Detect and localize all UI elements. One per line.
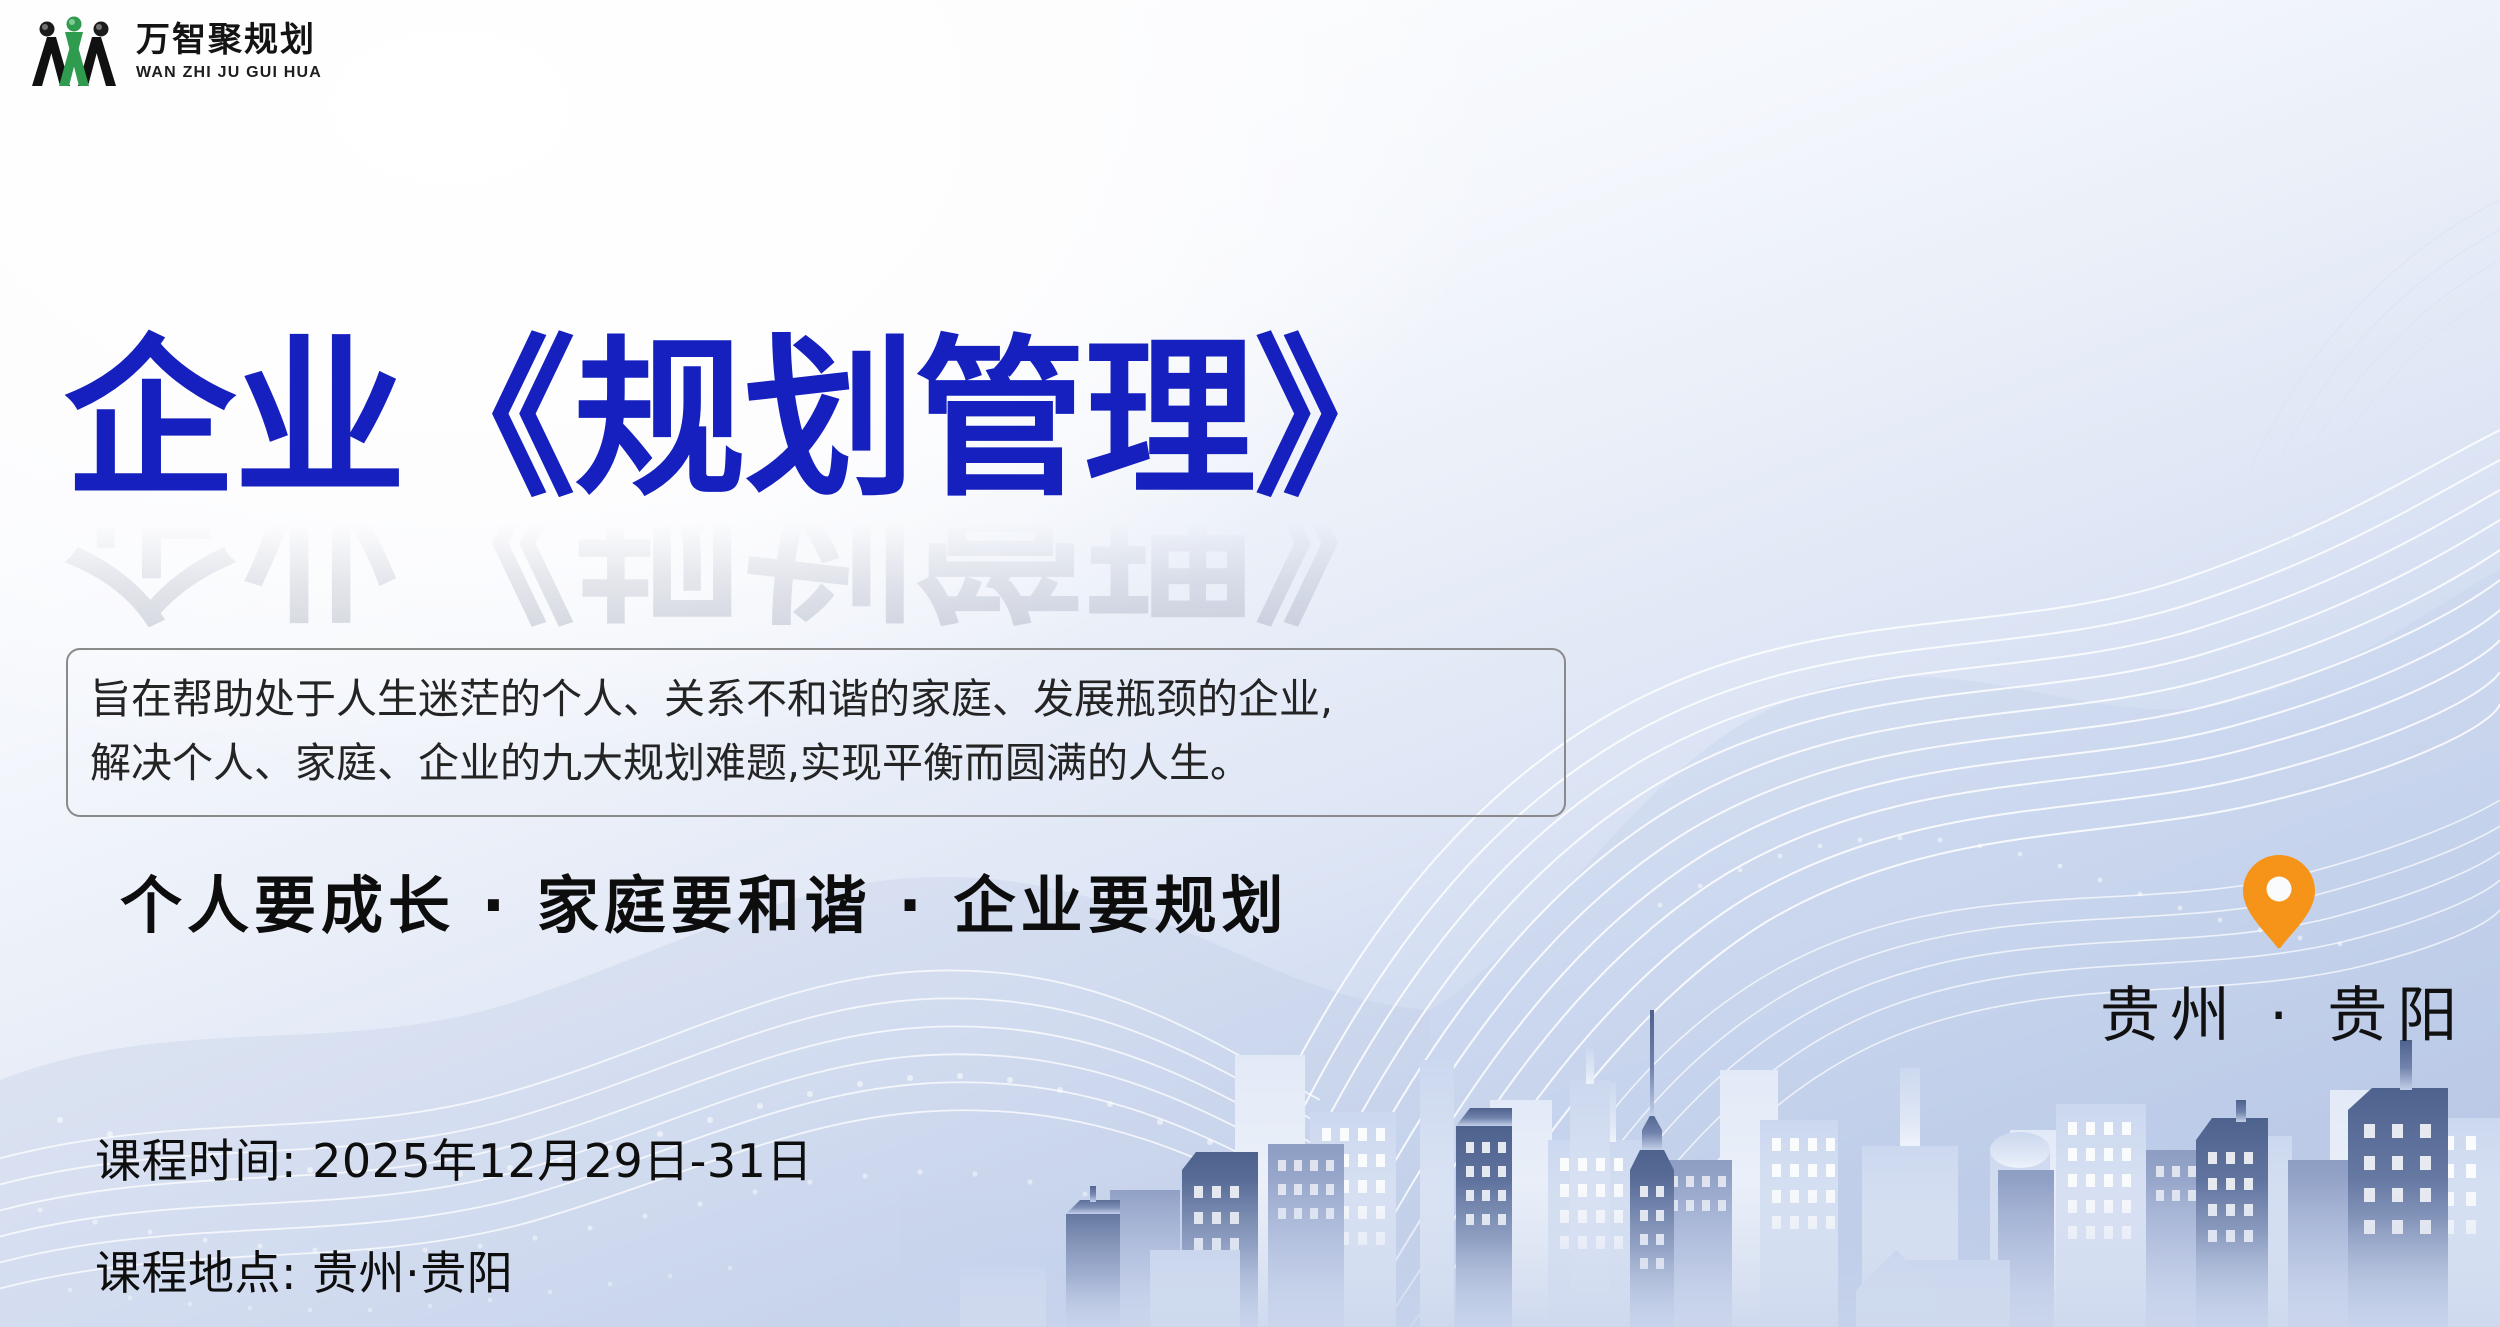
brand-name-cn: 万智聚规划 (136, 24, 322, 58)
page-title: 企业《规划管理》 (64, 330, 1424, 511)
course-details: 课程时间: 2025年12月29日-31日 课程地点: 贵州·贵阳 (95, 1125, 813, 1303)
hero-title-block: 企业《规划管理》 企业《规划管理》 (64, 330, 1424, 627)
description-line-1: 旨在帮助处于人生迷茫的个人、关系不和谐的家庭、发展瓶颈的企业, (90, 668, 1542, 732)
course-place-row: 课程地点: 贵州·贵阳 (95, 1237, 813, 1303)
course-time-row: 课程时间: 2025年12月29日-31日 (95, 1125, 813, 1191)
brand-name-pinyin: WAN ZHI JU GUI HUA (136, 65, 322, 81)
brand-logo[interactable]: 万智聚规划 WAN ZHI JU GUI HUA (30, 16, 322, 88)
description-line-2: 解决个人、家庭、企业的九大规划难题,实现平衡而圆满的人生。 (90, 732, 1542, 796)
tagline: 个人要成长 · 家庭要和谐 · 企业要规划 (120, 855, 1288, 945)
brand-name-group: 万智聚规划 WAN ZHI JU GUI HUA (136, 24, 322, 81)
location-group: 贵州 · 贵阳 (2090, 855, 2467, 1054)
map-pin-icon (2243, 855, 2315, 949)
three-people-logo-icon (30, 16, 118, 88)
poster-canvas: 万智聚规划 WAN ZHI JU GUI HUA 企业《规划管理》 企业《规划管… (0, 0, 2500, 1327)
location-label: 贵州 · 贵阳 (2090, 967, 2467, 1054)
page-title-reflection: 企业《规划管理》 (64, 515, 1424, 627)
description-box: 旨在帮助处于人生迷茫的个人、关系不和谐的家庭、发展瓶颈的企业, 解决个人、家庭、… (66, 648, 1566, 817)
